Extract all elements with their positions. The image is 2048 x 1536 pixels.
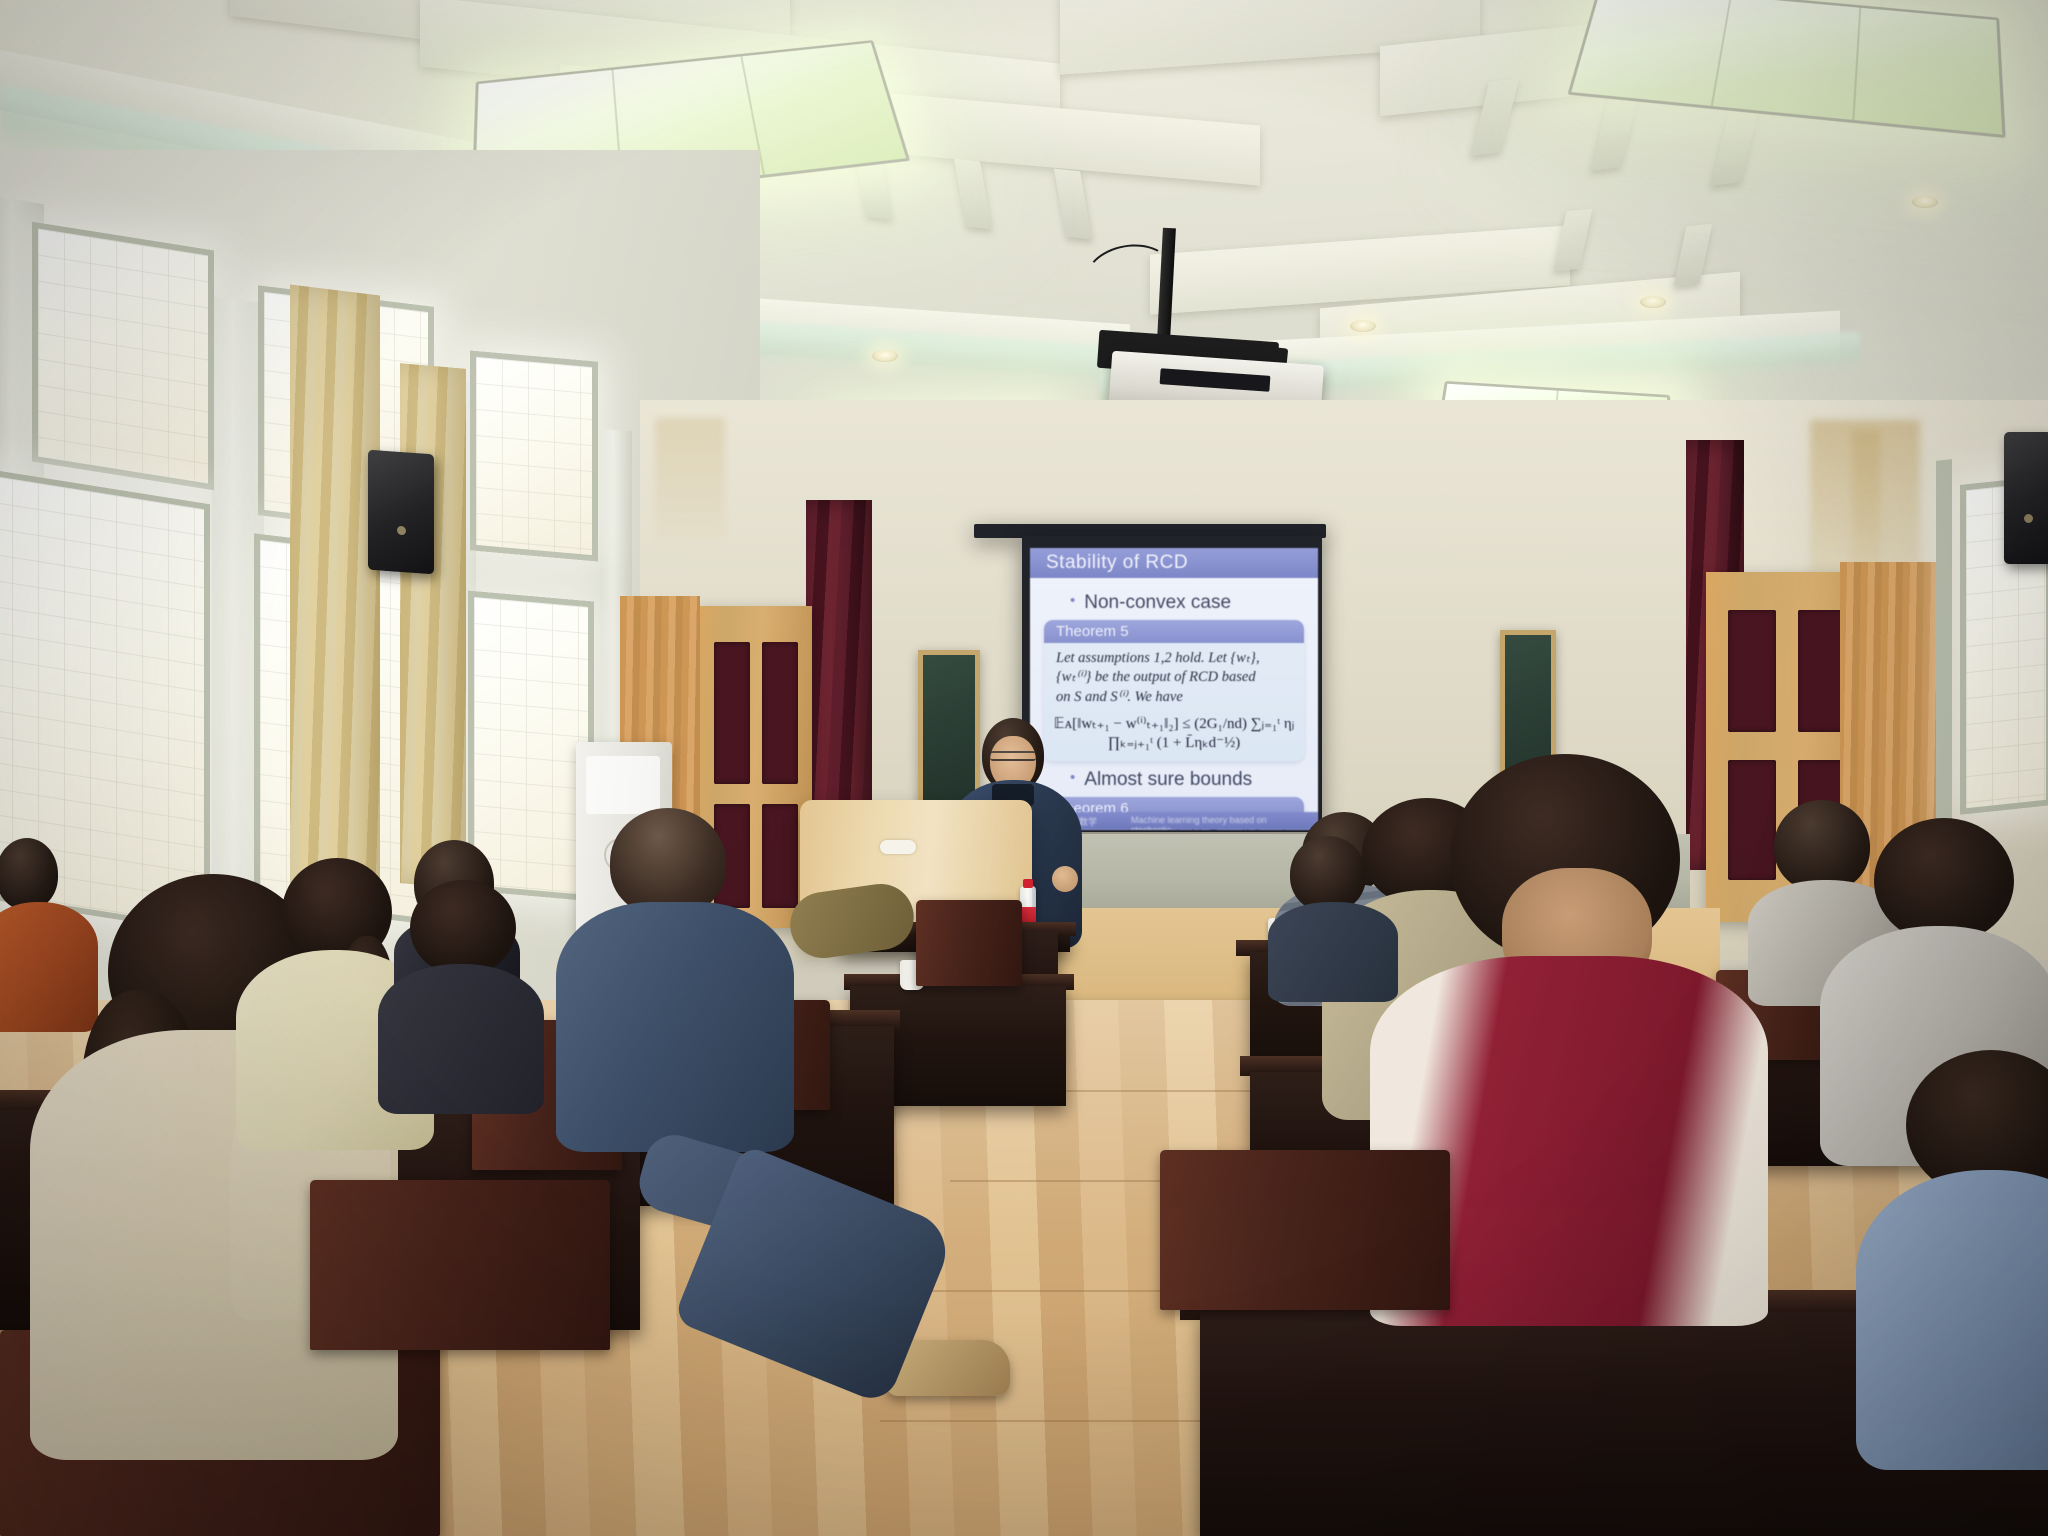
head [610,808,726,916]
theorem-5-line1: Let assumptions 1,2 hold. Let {wₜ}, {wₜ⁽… [1044,643,1304,688]
attendee-left-center-dark [386,880,536,1110]
downlight-icon [872,350,898,362]
lectern-plaque [880,840,916,854]
chair-foreground-right [1160,1150,1450,1310]
window-curtain-tan [290,284,380,925]
slide-bullet-nonconvex: Non-convex case [1070,592,1304,614]
downlight-icon [1912,196,1938,208]
presenter-glasses-icon [990,751,1036,761]
bottle-cap [1023,879,1033,888]
blue-jacket [1856,1170,2048,1470]
window-left-upper-3 [470,350,598,561]
attendee-far-right-blue [1876,1060,2048,1460]
presenter-hand [1052,866,1078,892]
window-left-upper-1 [32,222,214,491]
chair [916,900,1022,986]
hair [410,880,516,976]
window-curtain-tan-2 [400,363,466,889]
slide-title: Stability of RCD [1030,548,1318,578]
chair-foreground-left [310,1180,610,1350]
wall-speaker-right [2004,432,2048,564]
attendee-right-mid-navy [1272,836,1392,996]
downlight-icon [1640,296,1666,308]
theorem-5-heading: Theorem 5 [1044,620,1304,643]
downlight-icon [1350,320,1376,332]
shirt [556,902,794,1152]
lecture-hall-photo: Stability of RCD Non-convex case Theorem… [0,0,2048,1536]
wall-speaker-left [368,450,434,575]
theorem-5-line2: on S and S⁽ⁱ⁾. We have [1044,688,1304,709]
slide-bullet-almostsure: Almost sure bounds [1070,769,1304,791]
